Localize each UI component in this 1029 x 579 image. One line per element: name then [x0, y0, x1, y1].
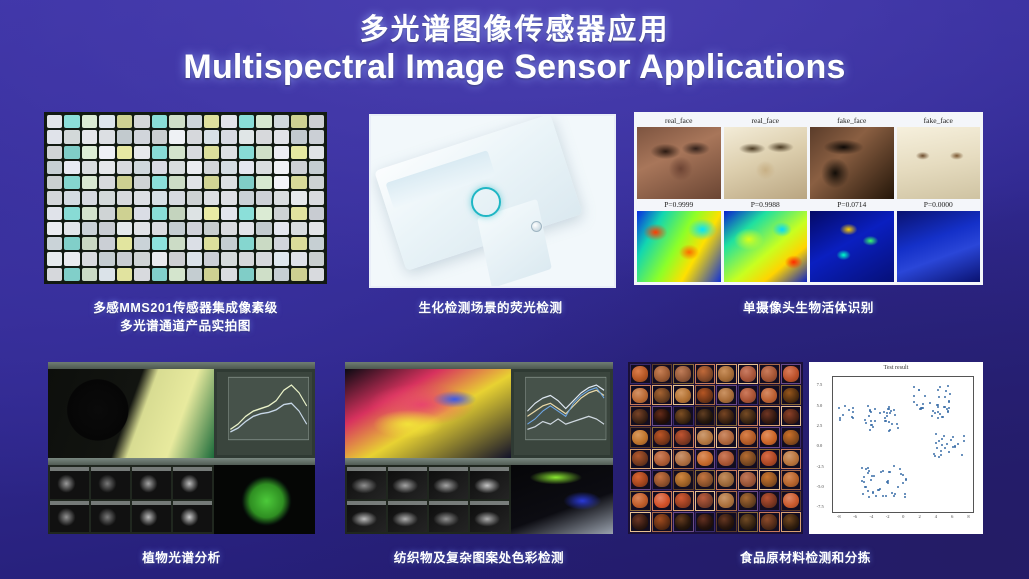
food-sample-cell: [781, 491, 802, 511]
thumbnail-header: [50, 501, 89, 505]
filter-array-cell: [152, 161, 167, 174]
food-sample-cell: [695, 364, 716, 384]
food-sample: [761, 472, 777, 487]
filter-array-cell: [64, 268, 79, 281]
scatter-y-tick: 0.0: [817, 443, 823, 448]
filter-array-cell: [256, 115, 271, 128]
filter-array-cell: [47, 130, 62, 143]
scatter-point: [939, 386, 941, 388]
food-sample-cell: [716, 512, 737, 532]
filter-array-cell: [204, 146, 219, 159]
filter-array-cell: [239, 268, 254, 281]
filter-array-cell: [169, 161, 184, 174]
filter-array-cell: [134, 130, 149, 143]
filter-array-cell: [274, 252, 289, 265]
food-sample: [697, 451, 713, 466]
thumbnail-header: [470, 467, 509, 471]
face-heatmap: [637, 211, 721, 283]
panel-plant-spectra-software: [48, 362, 315, 534]
food-sample-cell: [630, 491, 651, 511]
food-sample: [697, 430, 713, 445]
filter-array-cell: [187, 130, 202, 143]
food-sample: [675, 451, 691, 466]
filter-array-cell: [99, 161, 114, 174]
filter-array-cell: [274, 146, 289, 159]
filter-array-cell: [47, 146, 62, 159]
scatter-point: [863, 481, 865, 483]
food-sample: [654, 409, 670, 424]
filter-array-cell: [82, 115, 97, 128]
scatter-point: [934, 455, 936, 457]
food-sample-cell: [738, 491, 759, 511]
scatter-point: [937, 411, 939, 413]
scatter-point: [939, 413, 941, 415]
face-probability: P=0.0000: [897, 199, 981, 211]
scatter-point: [916, 404, 918, 406]
filter-array-cell: [169, 268, 184, 281]
filter-array-cell: [117, 268, 132, 281]
filter-array-cell: [117, 115, 132, 128]
face-label: fake_face: [810, 115, 894, 127]
scatter-point: [913, 395, 915, 397]
filter-array-cell: [117, 161, 132, 174]
scatter-point: [870, 479, 872, 481]
food-sample: [783, 472, 799, 487]
scatter-point: [852, 407, 854, 409]
scatter-point: [889, 412, 891, 414]
panel-classification-scatter: Test result 7.55.02.50.0-2.5-5.0-7.5-8-6…: [809, 362, 983, 534]
scatter-point: [948, 401, 950, 403]
scatter-point: [937, 417, 939, 419]
caption-fluorescence: 生化检测场景的荧光检测: [369, 299, 612, 317]
panel-textile-color-software: [345, 362, 613, 534]
scatter-point: [848, 409, 850, 411]
food-sample: [761, 430, 777, 445]
food-sample-cell: [673, 470, 694, 490]
food-sample: [632, 388, 648, 403]
scatter-plot-area: 7.55.02.50.0-2.5-5.0-7.5-8-6-4-202468: [832, 376, 975, 514]
food-sample: [718, 472, 734, 487]
filter-array-cell: [64, 237, 79, 250]
filter-array-cell: [256, 268, 271, 281]
food-sample: [718, 388, 734, 403]
scatter-point: [897, 427, 899, 429]
food-sample: [718, 430, 734, 445]
filter-array-cell: [64, 176, 79, 189]
caption-sensor-array-line2: 多光谱通道产品实拍图: [44, 317, 327, 335]
filter-array-cell: [309, 237, 324, 250]
software-section-header: [48, 458, 315, 465]
filter-array-cell: [47, 222, 62, 235]
scatter-x-tick: 2: [918, 514, 920, 519]
filter-array-cell: [309, 130, 324, 143]
filter-array-cell: [291, 268, 306, 281]
food-sample: [761, 451, 777, 466]
filter-array-cell: [82, 161, 97, 174]
filter-array-cell: [64, 222, 79, 235]
scatter-point: [896, 423, 898, 425]
band-thumbnail: [388, 501, 427, 532]
scatter-y-tick: 5.0: [817, 403, 823, 408]
scatter-point: [929, 402, 931, 404]
filter-array-cell: [309, 176, 324, 189]
scatter-point: [838, 407, 840, 409]
filter-array-cell: [134, 207, 149, 220]
food-sample-cell: [781, 470, 802, 490]
band-thumbnail: [173, 467, 212, 498]
filter-array-cell: [152, 207, 167, 220]
scatter-x-tick: -2: [886, 514, 890, 519]
filter-array-cell: [274, 115, 289, 128]
caption-plant-spectra-line1: 植物光谱分析: [48, 549, 315, 567]
filter-array-cell: [64, 130, 79, 143]
band-thumbnail-grid: [345, 465, 511, 534]
food-sample-cell: [652, 512, 673, 532]
filter-array-cell: [134, 222, 149, 235]
scatter-point: [899, 468, 901, 470]
food-sample: [740, 472, 756, 487]
scatter-point: [937, 389, 939, 391]
camera-preview: [48, 369, 214, 458]
scatter-point: [954, 445, 956, 447]
filter-array-cell: [221, 130, 236, 143]
filter-array-cell: [64, 146, 79, 159]
food-sample: [740, 409, 756, 424]
caption-fluorescence-line1: 生化检测场景的荧光检测: [369, 299, 612, 317]
filter-array-cell: [291, 207, 306, 220]
food-sample-cell: [652, 364, 673, 384]
food-sample-cell: [695, 470, 716, 490]
filter-array-cell: [99, 237, 114, 250]
filter-array-cell: [221, 222, 236, 235]
food-sample: [654, 366, 670, 381]
scatter-point: [947, 385, 949, 387]
scatter-point: [961, 454, 963, 456]
filter-array-cell: [152, 252, 167, 265]
food-sample-cell: [630, 470, 651, 490]
food-sample: [718, 366, 734, 381]
food-sample-cell: [781, 406, 802, 426]
filter-array-cell: [82, 146, 97, 159]
food-sample: [697, 409, 713, 424]
filter-array-cell: [239, 222, 254, 235]
scatter-point: [872, 426, 874, 428]
filter-array-cell: [204, 115, 219, 128]
filter-array-cell: [204, 252, 219, 265]
filter-array-cell: [187, 146, 202, 159]
scatter-point: [946, 443, 948, 445]
face-result-column: fake_face P=0.0714: [810, 115, 894, 282]
food-sample-cell: [781, 449, 802, 469]
food-sample: [675, 493, 691, 508]
food-sample-cell: [695, 512, 716, 532]
software-lower-region: [345, 465, 613, 534]
food-sample: [675, 514, 691, 529]
food-sample: [697, 514, 713, 529]
filter-array-cell: [82, 130, 97, 143]
scatter-y-tick: 7.5: [817, 382, 823, 387]
food-sample-cell: [716, 385, 737, 405]
scatter-point: [904, 496, 906, 498]
food-sample: [740, 493, 756, 508]
scatter-point: [904, 493, 906, 495]
scatter-point: [947, 410, 949, 412]
filter-array-cell: [187, 252, 202, 265]
filter-array-cell: [309, 115, 324, 128]
scatter-point: [879, 412, 881, 414]
filter-array-cell: [187, 268, 202, 281]
filter-array-cell: [256, 237, 271, 250]
classification-result-view: [511, 465, 613, 534]
filter-array-cell: [134, 268, 149, 281]
filter-array-cell: [221, 191, 236, 204]
band-thumbnail: [132, 467, 171, 498]
food-sample-cell: [630, 406, 651, 426]
filter-array-cell: [82, 222, 97, 235]
scatter-point: [882, 495, 884, 497]
thumbnail-header: [470, 501, 509, 505]
filter-array-cell: [309, 252, 324, 265]
scatter-point: [940, 454, 942, 456]
face-label: fake_face: [897, 115, 981, 127]
face-probability: P=0.9999: [637, 199, 721, 211]
filter-array-cell: [274, 268, 289, 281]
food-sample-cell: [652, 406, 673, 426]
filter-array-cell: [274, 191, 289, 204]
scatter-point: [941, 438, 943, 440]
band-thumbnail: [347, 501, 386, 532]
food-sample: [654, 430, 670, 445]
scatter-point: [957, 443, 959, 445]
filter-array-cell: [291, 176, 306, 189]
scatter-point: [868, 415, 870, 417]
filter-array-cell: [152, 191, 167, 204]
filter-array-cell: [239, 146, 254, 159]
food-sample-cell: [673, 427, 694, 447]
filter-array-cell: [221, 237, 236, 250]
scatter-point: [869, 410, 871, 412]
band-thumbnail: [91, 501, 130, 532]
filter-array-cell: [187, 176, 202, 189]
food-sample: [718, 451, 734, 466]
food-sample-cell: [716, 364, 737, 384]
scatter-point: [931, 415, 933, 417]
scatter-point: [902, 474, 904, 476]
food-sample-cell: [738, 406, 759, 426]
food-sample: [761, 514, 777, 529]
thumbnail-header: [173, 467, 212, 471]
band-thumbnail: [173, 501, 212, 532]
spectral-chart-panel: [214, 369, 315, 458]
thumbnail-header: [173, 501, 212, 505]
food-sample: [654, 388, 670, 403]
slide-title-block: 多光谱图像传感器应用 Multispectral Image Sensor Ap…: [0, 14, 1029, 88]
presentation-slide: 多光谱图像传感器应用 Multispectral Image Sensor Ap…: [0, 0, 1029, 579]
title-english: Multispectral Image Sensor Applications: [0, 48, 1029, 87]
filter-array-cell: [291, 115, 306, 128]
thumbnail-header: [132, 467, 171, 471]
food-sample: [675, 409, 691, 424]
food-sample-cell: [673, 512, 694, 532]
caption-textile-color-line1: 纺织物及复杂图案处色彩检测: [345, 549, 613, 567]
food-sample-cell: [695, 406, 716, 426]
filter-array-cell: [187, 191, 202, 204]
thumbnail-header: [429, 501, 468, 505]
food-sample-cell: [695, 491, 716, 511]
filter-array-cell: [291, 237, 306, 250]
scatter-x-tick: 4: [935, 514, 937, 519]
scatter-point: [891, 423, 893, 425]
filter-array-cell: [99, 146, 114, 159]
food-sample: [632, 409, 648, 424]
filter-array-cell: [47, 252, 62, 265]
scatter-point: [868, 470, 870, 472]
face-heatmap: [724, 211, 808, 283]
scatter-point: [891, 492, 893, 494]
food-sample-cell: [716, 406, 737, 426]
scatter-point: [867, 467, 869, 469]
scatter-point: [852, 411, 854, 413]
filter-array-cell: [239, 115, 254, 128]
food-sample-cell: [652, 449, 673, 469]
scatter-point: [943, 435, 945, 437]
filter-array-cell: [187, 115, 202, 128]
face-label: real_face: [637, 115, 721, 127]
food-sample-cell: [673, 449, 694, 469]
filter-array-cell: [291, 130, 306, 143]
food-sample-cell: [738, 449, 759, 469]
face-thumbnail: [724, 127, 808, 199]
scatter-point: [861, 467, 863, 469]
filter-array-cell: [47, 207, 62, 220]
filter-array-cell: [239, 161, 254, 174]
filter-array-cell: [169, 207, 184, 220]
thumbnail-header: [388, 467, 427, 471]
filter-array-cell: [291, 161, 306, 174]
food-sample: [761, 366, 777, 381]
filter-array-cell: [47, 115, 62, 128]
filter-array-cell: [152, 176, 167, 189]
filter-array-cell: [99, 207, 114, 220]
filter-array-cell: [169, 191, 184, 204]
food-sample-cell: [759, 470, 780, 490]
food-sample: [783, 514, 799, 529]
scatter-point: [945, 390, 947, 392]
filter-array-cell: [239, 207, 254, 220]
panel-sensor-filter-array: [44, 112, 327, 284]
band-thumbnail: [91, 467, 130, 498]
scatter-point: [872, 491, 874, 493]
filter-array-cell: [47, 237, 62, 250]
food-sample-cell: [695, 427, 716, 447]
filter-array-cell: [309, 191, 324, 204]
filter-array-cell: [309, 161, 324, 174]
filter-array-cell: [256, 130, 271, 143]
scatter-point: [936, 447, 938, 449]
scatter-point: [870, 420, 872, 422]
filter-array-cell: [64, 115, 79, 128]
band-thumbnail: [50, 467, 89, 498]
scatter-point: [893, 409, 895, 411]
filter-array-cell: [99, 115, 114, 128]
scatter-y-tick: -7.5: [817, 504, 824, 509]
filter-array-cell: [291, 146, 306, 159]
food-sample: [675, 472, 691, 487]
filter-array-cell: [152, 222, 167, 235]
food-sample-cell: [716, 427, 737, 447]
filter-array-cell: [187, 237, 202, 250]
spectral-chart-panel: [511, 369, 613, 458]
scatter-point: [867, 472, 869, 474]
filter-array-cell: [152, 146, 167, 159]
food-sample-cell: [738, 385, 759, 405]
filter-array-cell: [169, 115, 184, 128]
food-sample-cell: [716, 470, 737, 490]
food-sample: [740, 514, 756, 529]
scatter-point: [864, 419, 866, 421]
food-sample: [783, 430, 799, 445]
filter-array-cell: [134, 146, 149, 159]
band-thumbnail: [132, 501, 171, 532]
food-sample: [654, 493, 670, 508]
scatter-y-tick: -2.5: [817, 464, 824, 469]
food-sample: [783, 388, 799, 403]
scatter-point: [878, 489, 880, 491]
filter-array-cell: [221, 146, 236, 159]
face-heatmap: [810, 211, 894, 283]
scatter-point: [886, 415, 888, 417]
filter-array-cell: [274, 207, 289, 220]
scatter-point: [924, 395, 926, 397]
filter-array-cell: [64, 191, 79, 204]
scatter-point: [865, 468, 867, 470]
band-thumbnail: [347, 467, 386, 498]
filter-array-cell: [47, 191, 62, 204]
food-sample: [783, 409, 799, 424]
thumbnail-header: [388, 501, 427, 505]
food-sample-cell: [673, 406, 694, 426]
scatter-point: [938, 396, 940, 398]
scatter-point: [888, 421, 890, 423]
face-heatmap: [897, 211, 981, 283]
band-thumbnail: [470, 501, 509, 532]
filter-array-cell: [82, 268, 97, 281]
scatter-point: [938, 456, 940, 458]
filter-array-cell: [134, 161, 149, 174]
filter-array-cell: [221, 252, 236, 265]
scatter-point: [913, 386, 915, 388]
scatter-point: [887, 480, 889, 482]
food-sample: [654, 472, 670, 487]
food-sample-cell: [630, 364, 651, 384]
title-chinese: 多光谱图像传感器应用: [0, 14, 1029, 46]
food-sample: [654, 514, 670, 529]
filter-array-cell: [256, 146, 271, 159]
food-sample-cell: [652, 491, 673, 511]
scatter-point: [938, 440, 940, 442]
scatter-point: [902, 482, 904, 484]
filter-array-cell: [239, 176, 254, 189]
filter-array-cell: [291, 191, 306, 204]
filter-array-cell: [256, 161, 271, 174]
food-sample: [697, 388, 713, 403]
face-results-grid: real_face P=0.9999 real_face P=0.9988 fa…: [637, 115, 980, 282]
scatter-point: [913, 401, 915, 403]
food-sample: [783, 451, 799, 466]
thumbnail-header: [91, 467, 130, 471]
food-sample: [632, 514, 648, 529]
false-color-image-view: [345, 369, 511, 458]
